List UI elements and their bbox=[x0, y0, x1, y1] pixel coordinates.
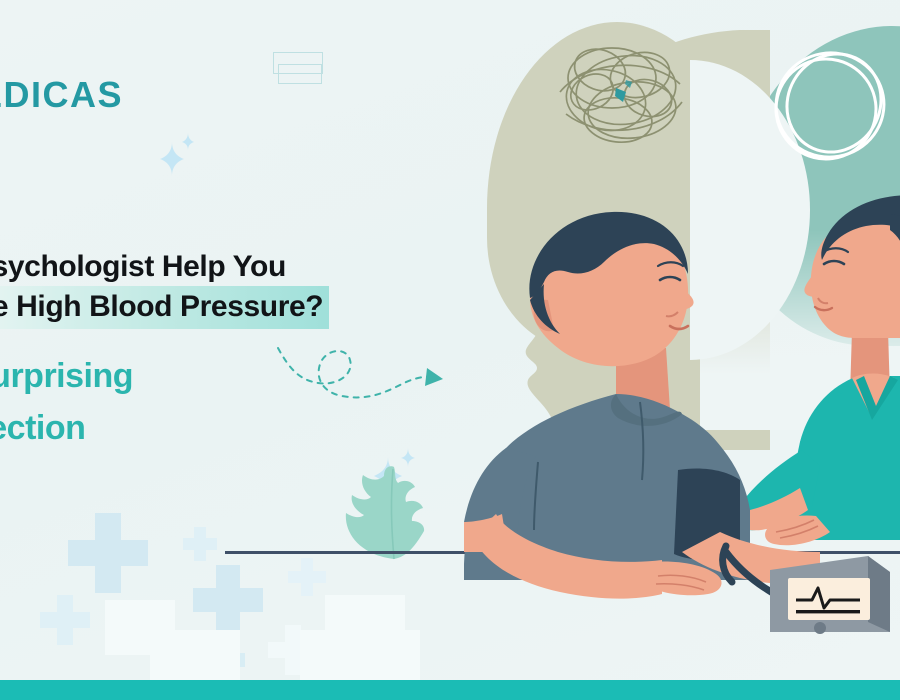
medical-cross-icon bbox=[40, 595, 90, 645]
headline-line-2: ge High Blood Pressure? bbox=[0, 286, 329, 329]
decor-block bbox=[150, 630, 240, 682]
decor-rectangle-outline bbox=[278, 64, 322, 84]
subheadline: Surprising nection bbox=[0, 350, 438, 454]
male-patient bbox=[464, 212, 820, 620]
hand-drawn-circles-icon bbox=[760, 35, 900, 180]
sparkle-icon bbox=[160, 132, 200, 176]
brand-logo[interactable]: EDICAS bbox=[0, 74, 123, 116]
headline-line-1: Psychologist Help You bbox=[0, 248, 442, 286]
patient-and-clinician-illustration bbox=[420, 180, 900, 680]
medical-cross-icon bbox=[288, 558, 326, 596]
medical-cross-icon bbox=[183, 527, 217, 561]
medical-cross-icon bbox=[68, 513, 148, 593]
hero-banner: EDICAS Psychologist Help You ge High Blo… bbox=[0, 0, 900, 700]
tangled-scribble-brain-icon bbox=[540, 30, 700, 170]
medical-cross-icon bbox=[193, 565, 263, 635]
female-clinician bbox=[736, 195, 900, 545]
bottom-accent-bar bbox=[0, 680, 900, 700]
headline: Psychologist Help You ge High Blood Pres… bbox=[0, 248, 442, 329]
subheadline-line-1: Surprising bbox=[0, 350, 438, 402]
decor-block bbox=[300, 630, 420, 680]
blood-pressure-monitor bbox=[770, 556, 890, 634]
subheadline-line-2: nection bbox=[0, 402, 438, 454]
